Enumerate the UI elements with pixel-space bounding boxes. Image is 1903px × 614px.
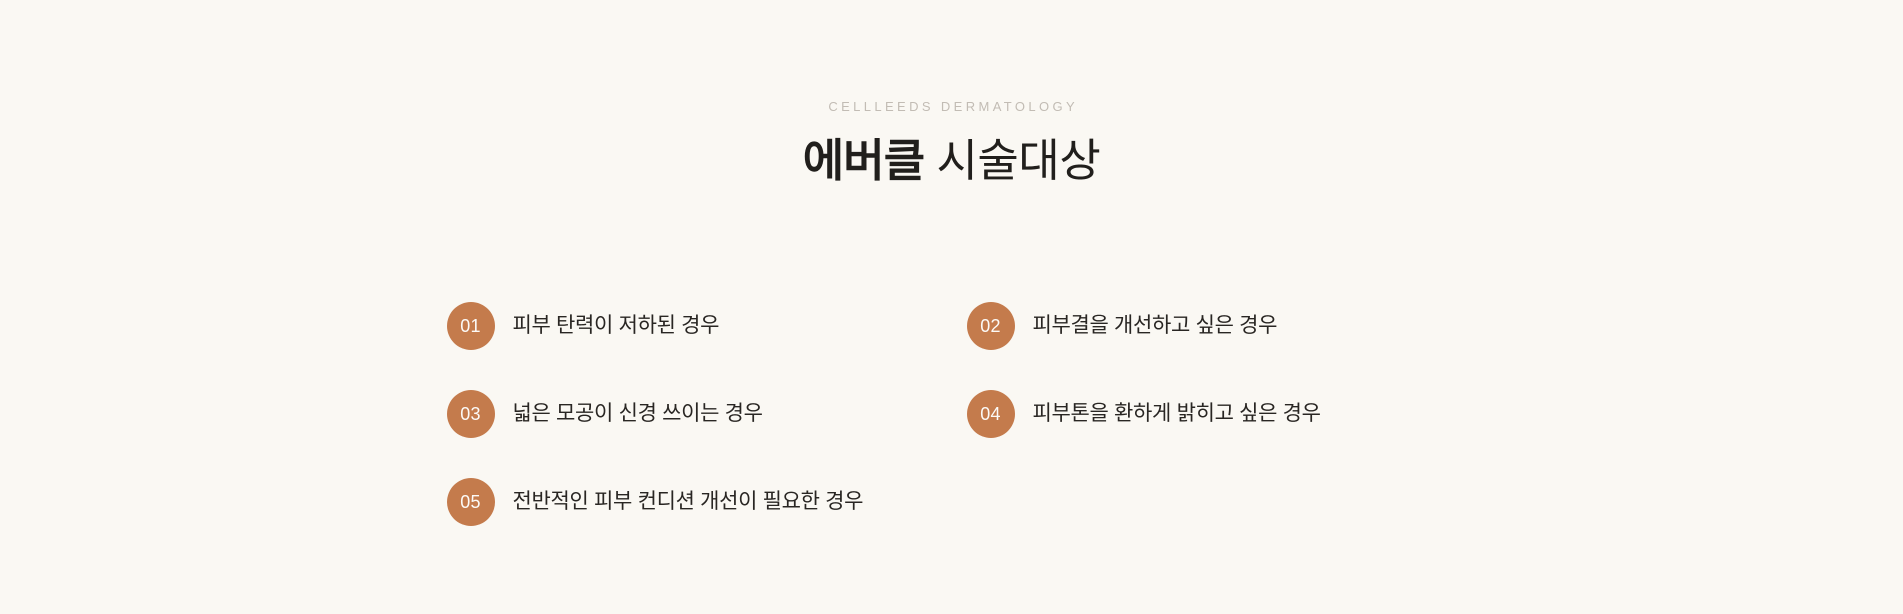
list-item: 05 전반적인 피부 컨디션 개선이 필요한 경우 [447, 478, 967, 526]
list-item: 03 넓은 모공이 신경 쓰이는 경우 [447, 390, 967, 438]
treatment-target-section: CELLLEEDS DERMATOLOGY 에버클 시술대상 01 피부 탄력이… [0, 0, 1903, 614]
page-title-subject: 시술대상 [936, 135, 1100, 186]
section-header: CELLLEEDS DERMATOLOGY 에버클 시술대상 [0, 100, 1903, 219]
page-title: 에버클 시술대상 [0, 134, 1903, 189]
brand-eyebrow: CELLLEEDS DERMATOLOGY [0, 100, 1903, 113]
list-item-number-badge: 03 [447, 390, 495, 438]
list-item-label: 넓은 모공이 신경 쓰이는 경우 [513, 399, 763, 428]
list-item-number-badge: 02 [967, 302, 1015, 350]
treatment-target-list: 01 피부 탄력이 저하된 경우 02 피부결을 개선하고 싶은 경우 03 넓… [447, 282, 1457, 546]
list-item-label: 피부결을 개선하고 싶은 경우 [1033, 311, 1278, 340]
list-item: 01 피부 탄력이 저하된 경우 [447, 302, 967, 350]
list-item-number-badge: 05 [447, 478, 495, 526]
list-item-label: 피부 탄력이 저하된 경우 [513, 311, 720, 340]
list-item-number-badge: 04 [967, 390, 1015, 438]
list-item-label: 전반적인 피부 컨디션 개선이 필요한 경우 [513, 487, 864, 516]
list-item: 02 피부결을 개선하고 싶은 경우 [967, 302, 1457, 350]
page-title-brand: 에버클 [803, 135, 925, 186]
list-item-number-badge: 01 [447, 302, 495, 350]
list-item-label: 피부톤을 환하게 밝히고 싶은 경우 [1033, 399, 1321, 428]
list-item: 04 피부톤을 환하게 밝히고 싶은 경우 [967, 390, 1457, 438]
